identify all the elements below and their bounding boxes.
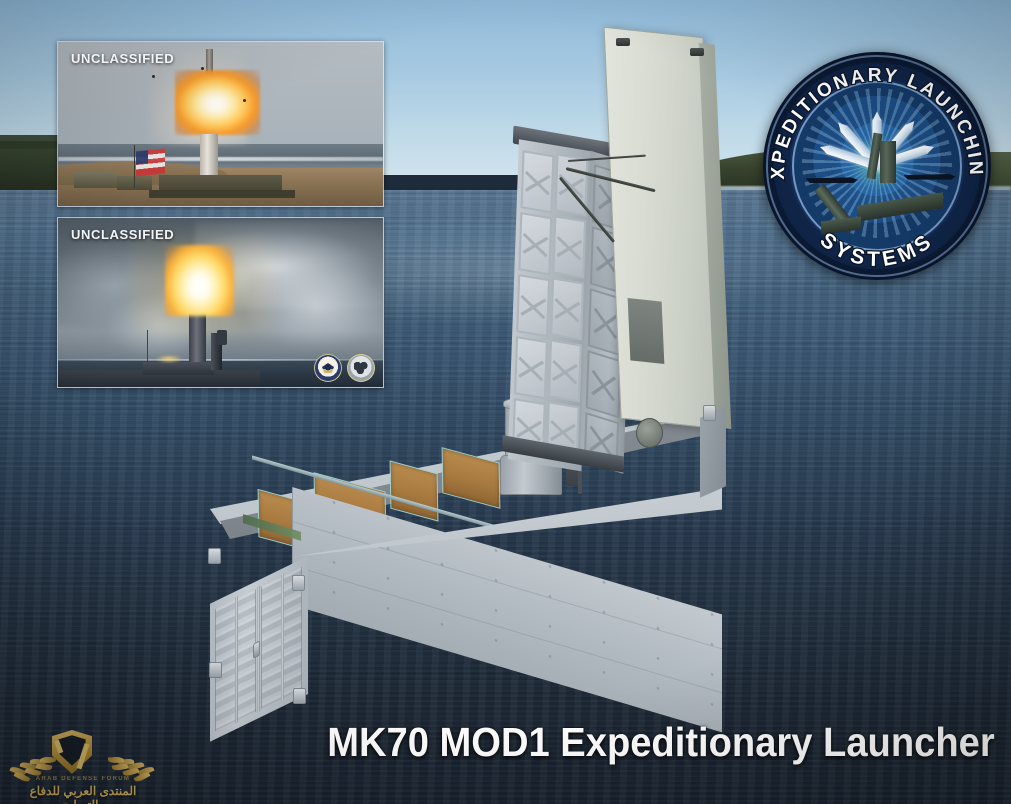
lattice-cell [518, 212, 552, 275]
photo2-deck-fire [156, 355, 182, 363]
container-corner-casting [209, 662, 222, 678]
lid-hinge-fitting [616, 38, 630, 46]
container-corner-casting [292, 575, 305, 591]
container-corner-casting [703, 405, 716, 421]
photo2-deck-structure [143, 362, 215, 376]
program-office-seal-icon [347, 354, 375, 382]
lattice-cell [516, 274, 550, 337]
door-locking-bar[interactable] [235, 595, 238, 723]
photo2-exhaust-flame [165, 245, 233, 316]
emblem-top-arc-text: EXPEDITIONARY LAUNCHING [763, 52, 986, 180]
container-corner-casting [208, 548, 221, 564]
watermark-english-text: ARAB DEFENSE FORUM [28, 776, 138, 782]
photo1-trailer-base [149, 190, 295, 198]
lattice-cell [514, 336, 548, 399]
lattice-cell [521, 150, 555, 213]
container-corner-casting [293, 688, 306, 704]
screenshot-canvas: UNCLASSIFIED UNCLASSIFIED [0, 0, 1011, 804]
photo1-booster [200, 134, 218, 180]
watermark-arabic-text: المنتدى العربي للدفاع والتسليح [14, 784, 152, 804]
arab-defense-forum-watermark: ARAB DEFENSE FORUM المنتدى العربي للدفاع… [8, 728, 156, 802]
us-navy-seal-icon [314, 354, 342, 382]
photo1-debris-speck [201, 67, 204, 70]
emblem-text-layer: EXPEDITIONARY LAUNCHING SYSTEMS [763, 52, 991, 280]
page-title: MK70 MOD1 Expeditionary Launcher [328, 719, 995, 766]
photo2-mast-fitting [217, 330, 227, 345]
lattice-cell [548, 339, 582, 402]
photo1-support-vehicle [74, 172, 116, 188]
photo1-surf [58, 157, 383, 161]
lid-pivot-bracket [636, 418, 663, 448]
emblem-bottom-arc-text: SYSTEMS [816, 228, 939, 271]
inset-photo-ship-launch[interactable]: UNCLASSIFIED [57, 217, 384, 388]
inset-photo-land-launch[interactable]: UNCLASSIFIED [57, 41, 384, 207]
photo1-flag-pole [134, 145, 135, 188]
lattice-cell [552, 215, 586, 278]
lid-inspection-panel [628, 298, 665, 364]
lattice-cell-side [586, 350, 622, 418]
classification-marking: UNCLASSIFIED [71, 227, 174, 242]
classification-marking: UNCLASSIFIED [71, 51, 174, 66]
door-locking-bar[interactable] [281, 573, 284, 701]
lid-hinge-fitting [690, 48, 704, 56]
photo2-deck-post [147, 330, 148, 367]
photo1-exhaust-flame [175, 70, 260, 136]
photo1-us-flag [136, 149, 165, 177]
lattice-cell [550, 277, 584, 340]
expeditionary-launching-systems-emblem: EXPEDITIONARY LAUNCHING SYSTEMS [763, 52, 991, 280]
